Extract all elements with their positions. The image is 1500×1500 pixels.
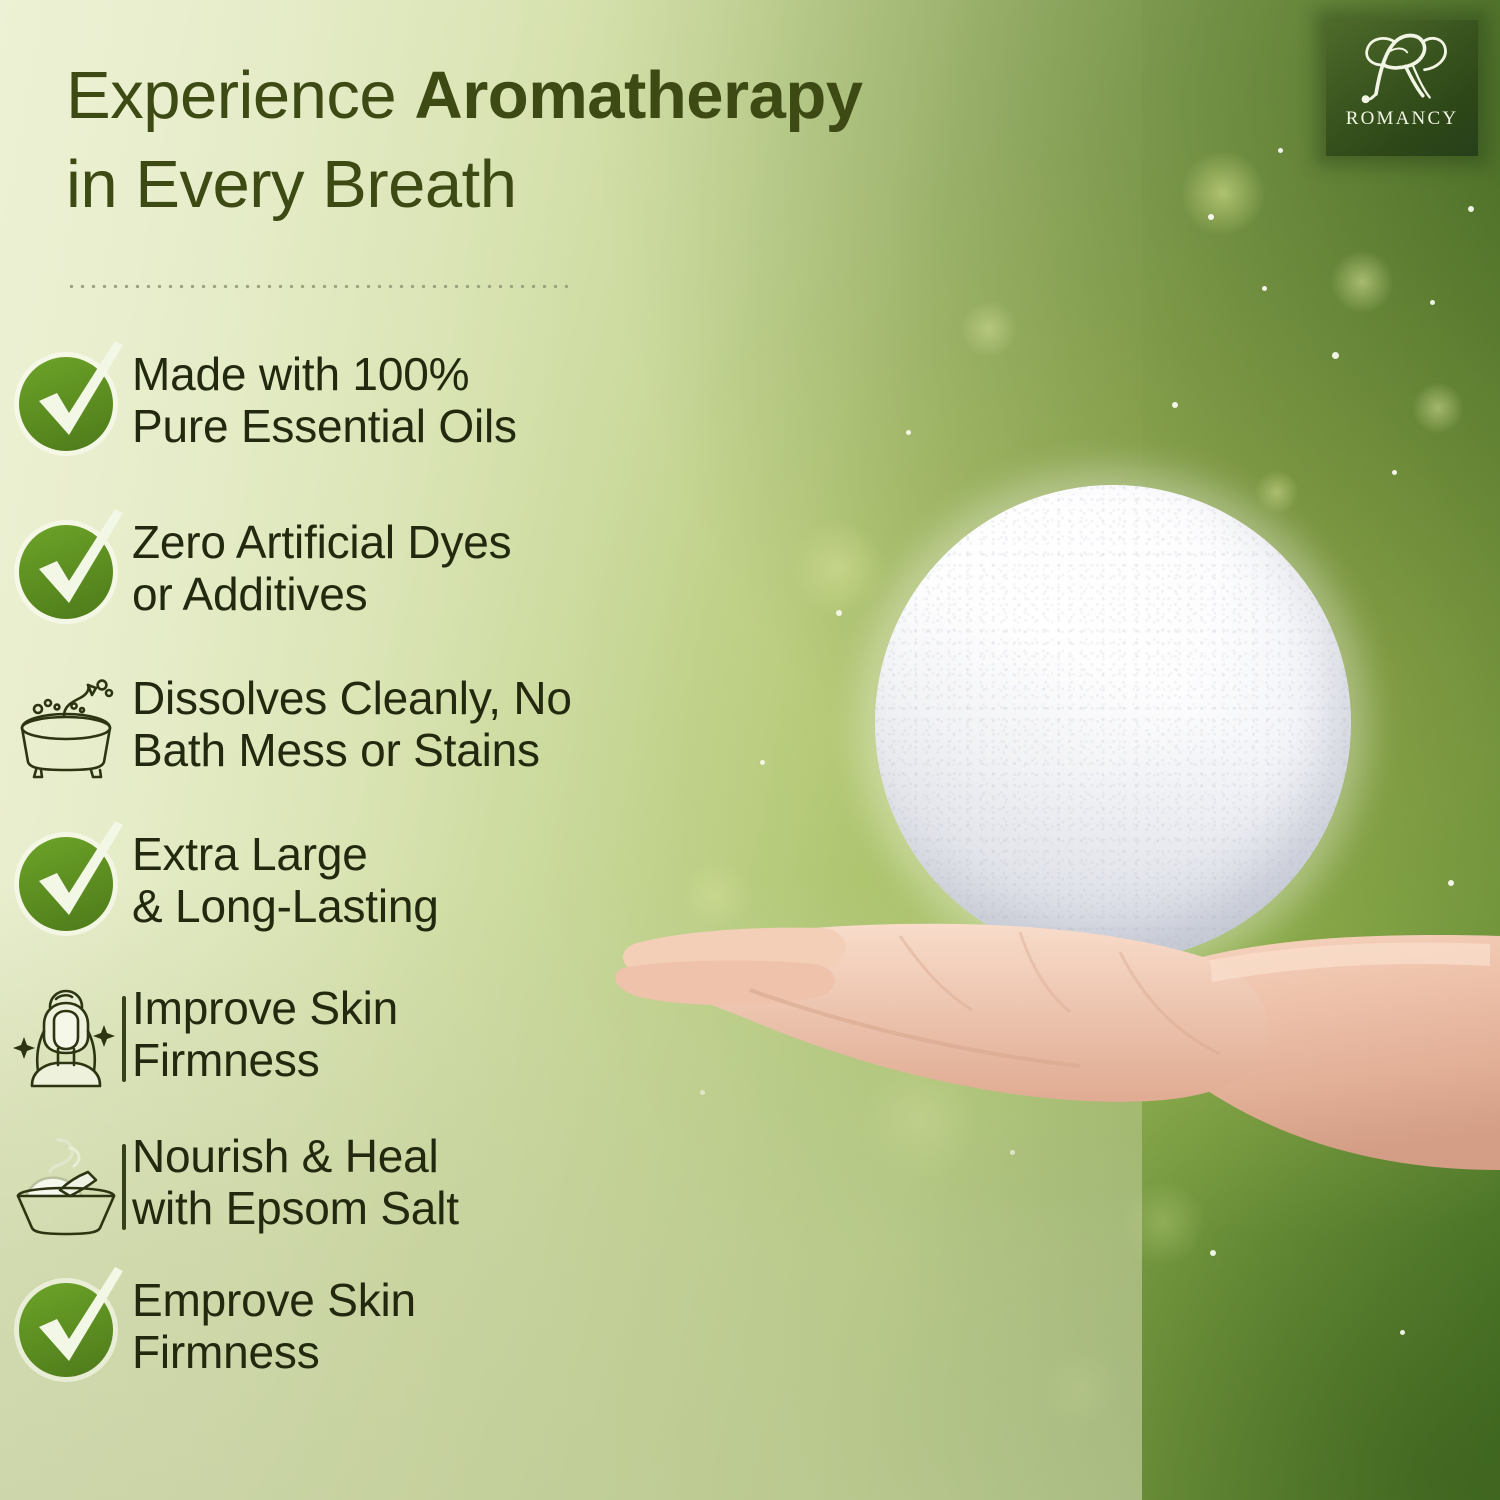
feature-label: Extra Large & Long-Lasting <box>132 824 780 933</box>
feature-label: Emprove Skin Firmness <box>132 1270 780 1379</box>
feature-icon-slot <box>0 1270 132 1390</box>
script-r-monogram-icon <box>1350 26 1454 110</box>
headline-line1-light: Experience <box>66 58 414 133</box>
feature-icon-slot <box>0 1126 132 1246</box>
page-title: Experience Aromatherapy in Every Breath <box>66 62 1076 218</box>
bath-bomb-shading <box>875 485 1351 961</box>
feature-icon-slot <box>0 668 132 788</box>
woman-sparkle-icon <box>12 985 120 1091</box>
bath-bomb-sphere <box>875 485 1351 961</box>
icon-divider-bar <box>122 1144 126 1230</box>
brand-wordmark: ROMANCY <box>1346 108 1459 130</box>
green-check-icon <box>19 357 113 451</box>
brand-logo-badge: ROMANCY <box>1326 20 1478 156</box>
feature-row: Zero Artificial Dyes or Additives <box>0 512 780 632</box>
feature-label: Nourish & Heal with Epsom Salt <box>132 1126 780 1235</box>
green-check-icon <box>19 837 113 931</box>
feature-label: Dissolves Cleanly, No Bath Mess or Stain… <box>132 668 780 777</box>
salt-bowl-icon <box>12 1134 120 1238</box>
feature-icon-slot <box>0 344 132 464</box>
feature-row: Improve Skin Firmness <box>0 978 780 1098</box>
bath-bomb-texture <box>875 485 1351 961</box>
feature-icon-slot <box>0 512 132 632</box>
feature-label: Zero Artificial Dyes or Additives <box>132 512 780 621</box>
feature-label: Made with 100% Pure Essential Oils <box>132 344 780 453</box>
feature-row: Nourish & Heal with Epsom Salt <box>0 1126 780 1246</box>
headline-line1-bold: Aromatherapy <box>414 58 862 133</box>
bathtub-icon <box>12 676 120 780</box>
feature-row: Dissolves Cleanly, No Bath Mess or Stain… <box>0 668 780 788</box>
feature-label: Improve Skin Firmness <box>132 978 780 1087</box>
feature-row: Extra Large & Long-Lasting <box>0 824 780 944</box>
product-infographic: Experience Aromatherapy in Every Breath <box>0 0 1500 1500</box>
headline-line2: in Every Breath <box>66 151 1076 218</box>
icon-divider-bar <box>122 996 126 1082</box>
feature-list: Made with 100% Pure Essential Oils Zero … <box>0 344 780 1390</box>
feature-row: Emprove Skin Firmness <box>0 1270 780 1390</box>
feature-icon-slot <box>0 824 132 944</box>
feature-icon-slot <box>0 978 132 1098</box>
green-check-icon <box>19 525 113 619</box>
feature-row: Made with 100% Pure Essential Oils <box>0 344 780 464</box>
green-check-icon <box>19 1283 113 1377</box>
dotted-divider <box>66 284 572 289</box>
